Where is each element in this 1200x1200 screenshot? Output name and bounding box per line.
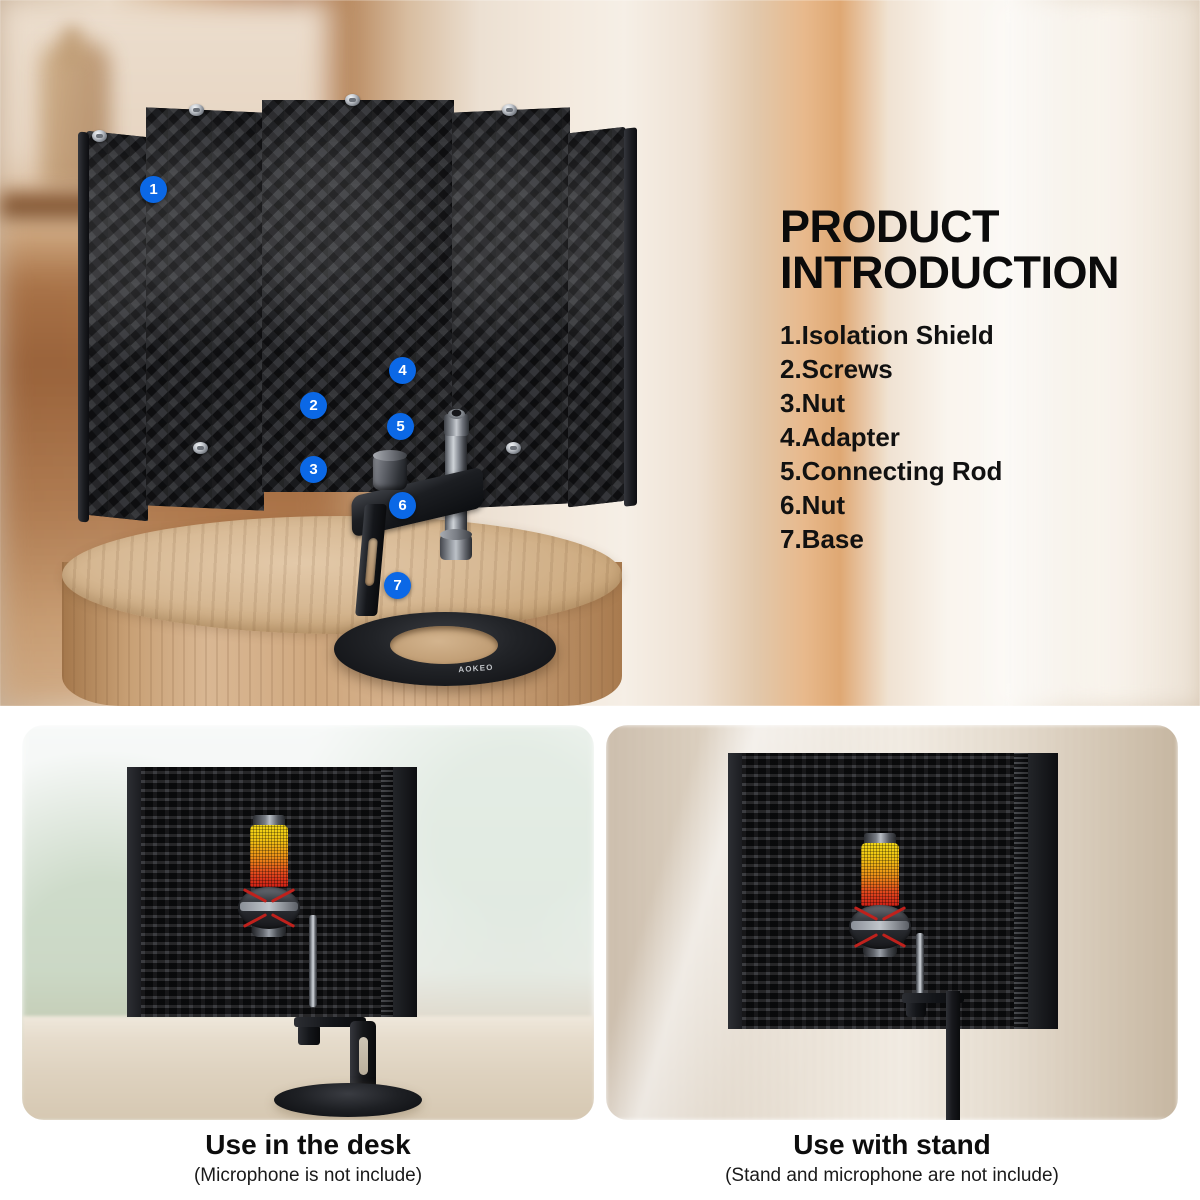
wooden-table <box>62 516 622 706</box>
isolation-shield: AOKEO <box>78 56 638 526</box>
shock-mount-band <box>271 888 295 903</box>
shock-mount-band <box>854 906 878 921</box>
mic-boom-vertical <box>309 915 317 1007</box>
shield-panel-center <box>262 100 454 492</box>
callout-badge-5[interactable]: 5 <box>387 413 414 440</box>
shield-panel-left <box>141 767 229 1017</box>
callout-badge-3[interactable]: 3 <box>300 456 327 483</box>
shield-screw <box>345 94 360 106</box>
stand-base-hole <box>390 626 498 664</box>
shield-screw <box>92 130 107 142</box>
shield-screw <box>976 750 985 757</box>
callout-badge-4[interactable]: 4 <box>389 357 416 384</box>
title-line-2: INTRODUCTION <box>780 250 1180 296</box>
floor-stand-pole <box>946 991 960 1120</box>
acoustic-foam <box>333 767 383 1017</box>
shield-panel-right-outer <box>568 127 626 508</box>
caption-note: (Stand and microphone are not include) <box>606 1164 1178 1189</box>
list-item: 6.Nut <box>780 488 1180 522</box>
shield-screw <box>502 104 517 116</box>
shield-panel-left-outer <box>86 131 148 522</box>
acoustic-foam <box>840 753 960 1029</box>
usage-card-desk <box>22 725 594 1120</box>
product-introduction: PRODUCT INTRODUCTION 1.Isolation Shield … <box>780 204 1180 556</box>
shield-panel-right-outer <box>1028 753 1058 1029</box>
caption-note: (Microphone is not include) <box>22 1164 594 1189</box>
shield-panel-right <box>958 753 1016 1029</box>
shield-screw <box>167 1011 176 1018</box>
callout-badge-2[interactable]: 2 <box>300 392 327 419</box>
shield-panel-center <box>840 753 960 1029</box>
shock-mount-band <box>243 888 267 903</box>
nut-lower <box>440 534 472 560</box>
list-item: 2.Screws <box>780 352 1180 386</box>
callout-badge-7[interactable]: 7 <box>384 572 411 599</box>
shield-screw <box>506 442 521 454</box>
mic-grille <box>250 825 288 887</box>
shield-screw <box>774 750 783 757</box>
mic-grille <box>861 843 899 906</box>
shield-screw <box>189 104 204 116</box>
list-item: 1.Isolation Shield <box>780 318 1180 352</box>
callout-badge-6[interactable]: 6 <box>389 492 416 519</box>
shield-screw <box>774 1023 783 1030</box>
shield-screw <box>167 764 176 771</box>
callout-badge-1[interactable]: 1 <box>140 176 167 203</box>
shield-edge-right <box>624 127 637 506</box>
caption-desk: Use in the desk (Microphone is not inclu… <box>22 1128 594 1189</box>
list-item: 7.Base <box>780 522 1180 556</box>
shock-mount-band <box>243 913 267 928</box>
shield-edge-left <box>78 131 89 522</box>
shield-screw <box>353 764 362 771</box>
shield-panel-right <box>333 767 383 1017</box>
adapter <box>444 414 469 436</box>
list-item: 4.Adapter <box>780 420 1180 454</box>
shield-screw <box>263 764 272 771</box>
acoustic-foam <box>742 753 842 1029</box>
table-top <box>62 516 622 634</box>
shock-mount-band <box>882 933 906 948</box>
page-title: PRODUCT INTRODUCTION <box>780 204 1180 296</box>
shock-mount-band <box>271 913 295 928</box>
acoustic-foam <box>262 100 454 492</box>
list-item: 3.Nut <box>780 386 1180 420</box>
desk-stand-slot <box>359 1037 368 1075</box>
caption-title: Use with stand <box>606 1128 1178 1162</box>
acoustic-foam <box>141 767 229 1017</box>
mic-boom-clamp <box>298 1025 320 1045</box>
list-item: 5.Connecting Rod <box>780 454 1180 488</box>
stand-arm-slot <box>365 538 378 586</box>
acoustic-foam <box>958 753 1016 1029</box>
caption-title: Use in the desk <box>22 1128 594 1162</box>
shield-panel-right-outer <box>393 767 417 1017</box>
shield-panel-left <box>742 753 842 1029</box>
shock-mount <box>238 887 300 929</box>
shock-mount-band <box>854 933 878 948</box>
shield-screw <box>193 442 208 454</box>
desk-stand-base <box>274 1083 422 1117</box>
nut-upper <box>373 454 407 490</box>
hero-product-section: AOKEO 1 2 3 4 5 6 7 PRODUCT INTRODUCTION… <box>0 0 1200 706</box>
title-line-1: PRODUCT <box>780 204 1180 250</box>
shield-screw <box>976 1023 985 1030</box>
caption-stand: Use with stand (Stand and microphone are… <box>606 1128 1178 1189</box>
usage-card-stand <box>606 725 1178 1120</box>
shock-mount <box>849 905 911 949</box>
shock-mount-band <box>882 906 906 921</box>
acoustic-foam <box>568 127 626 508</box>
parts-list: 1.Isolation Shield 2.Screws 3.Nut 4.Adap… <box>780 318 1180 556</box>
shield-screw <box>876 750 885 757</box>
acoustic-foam <box>86 131 148 522</box>
